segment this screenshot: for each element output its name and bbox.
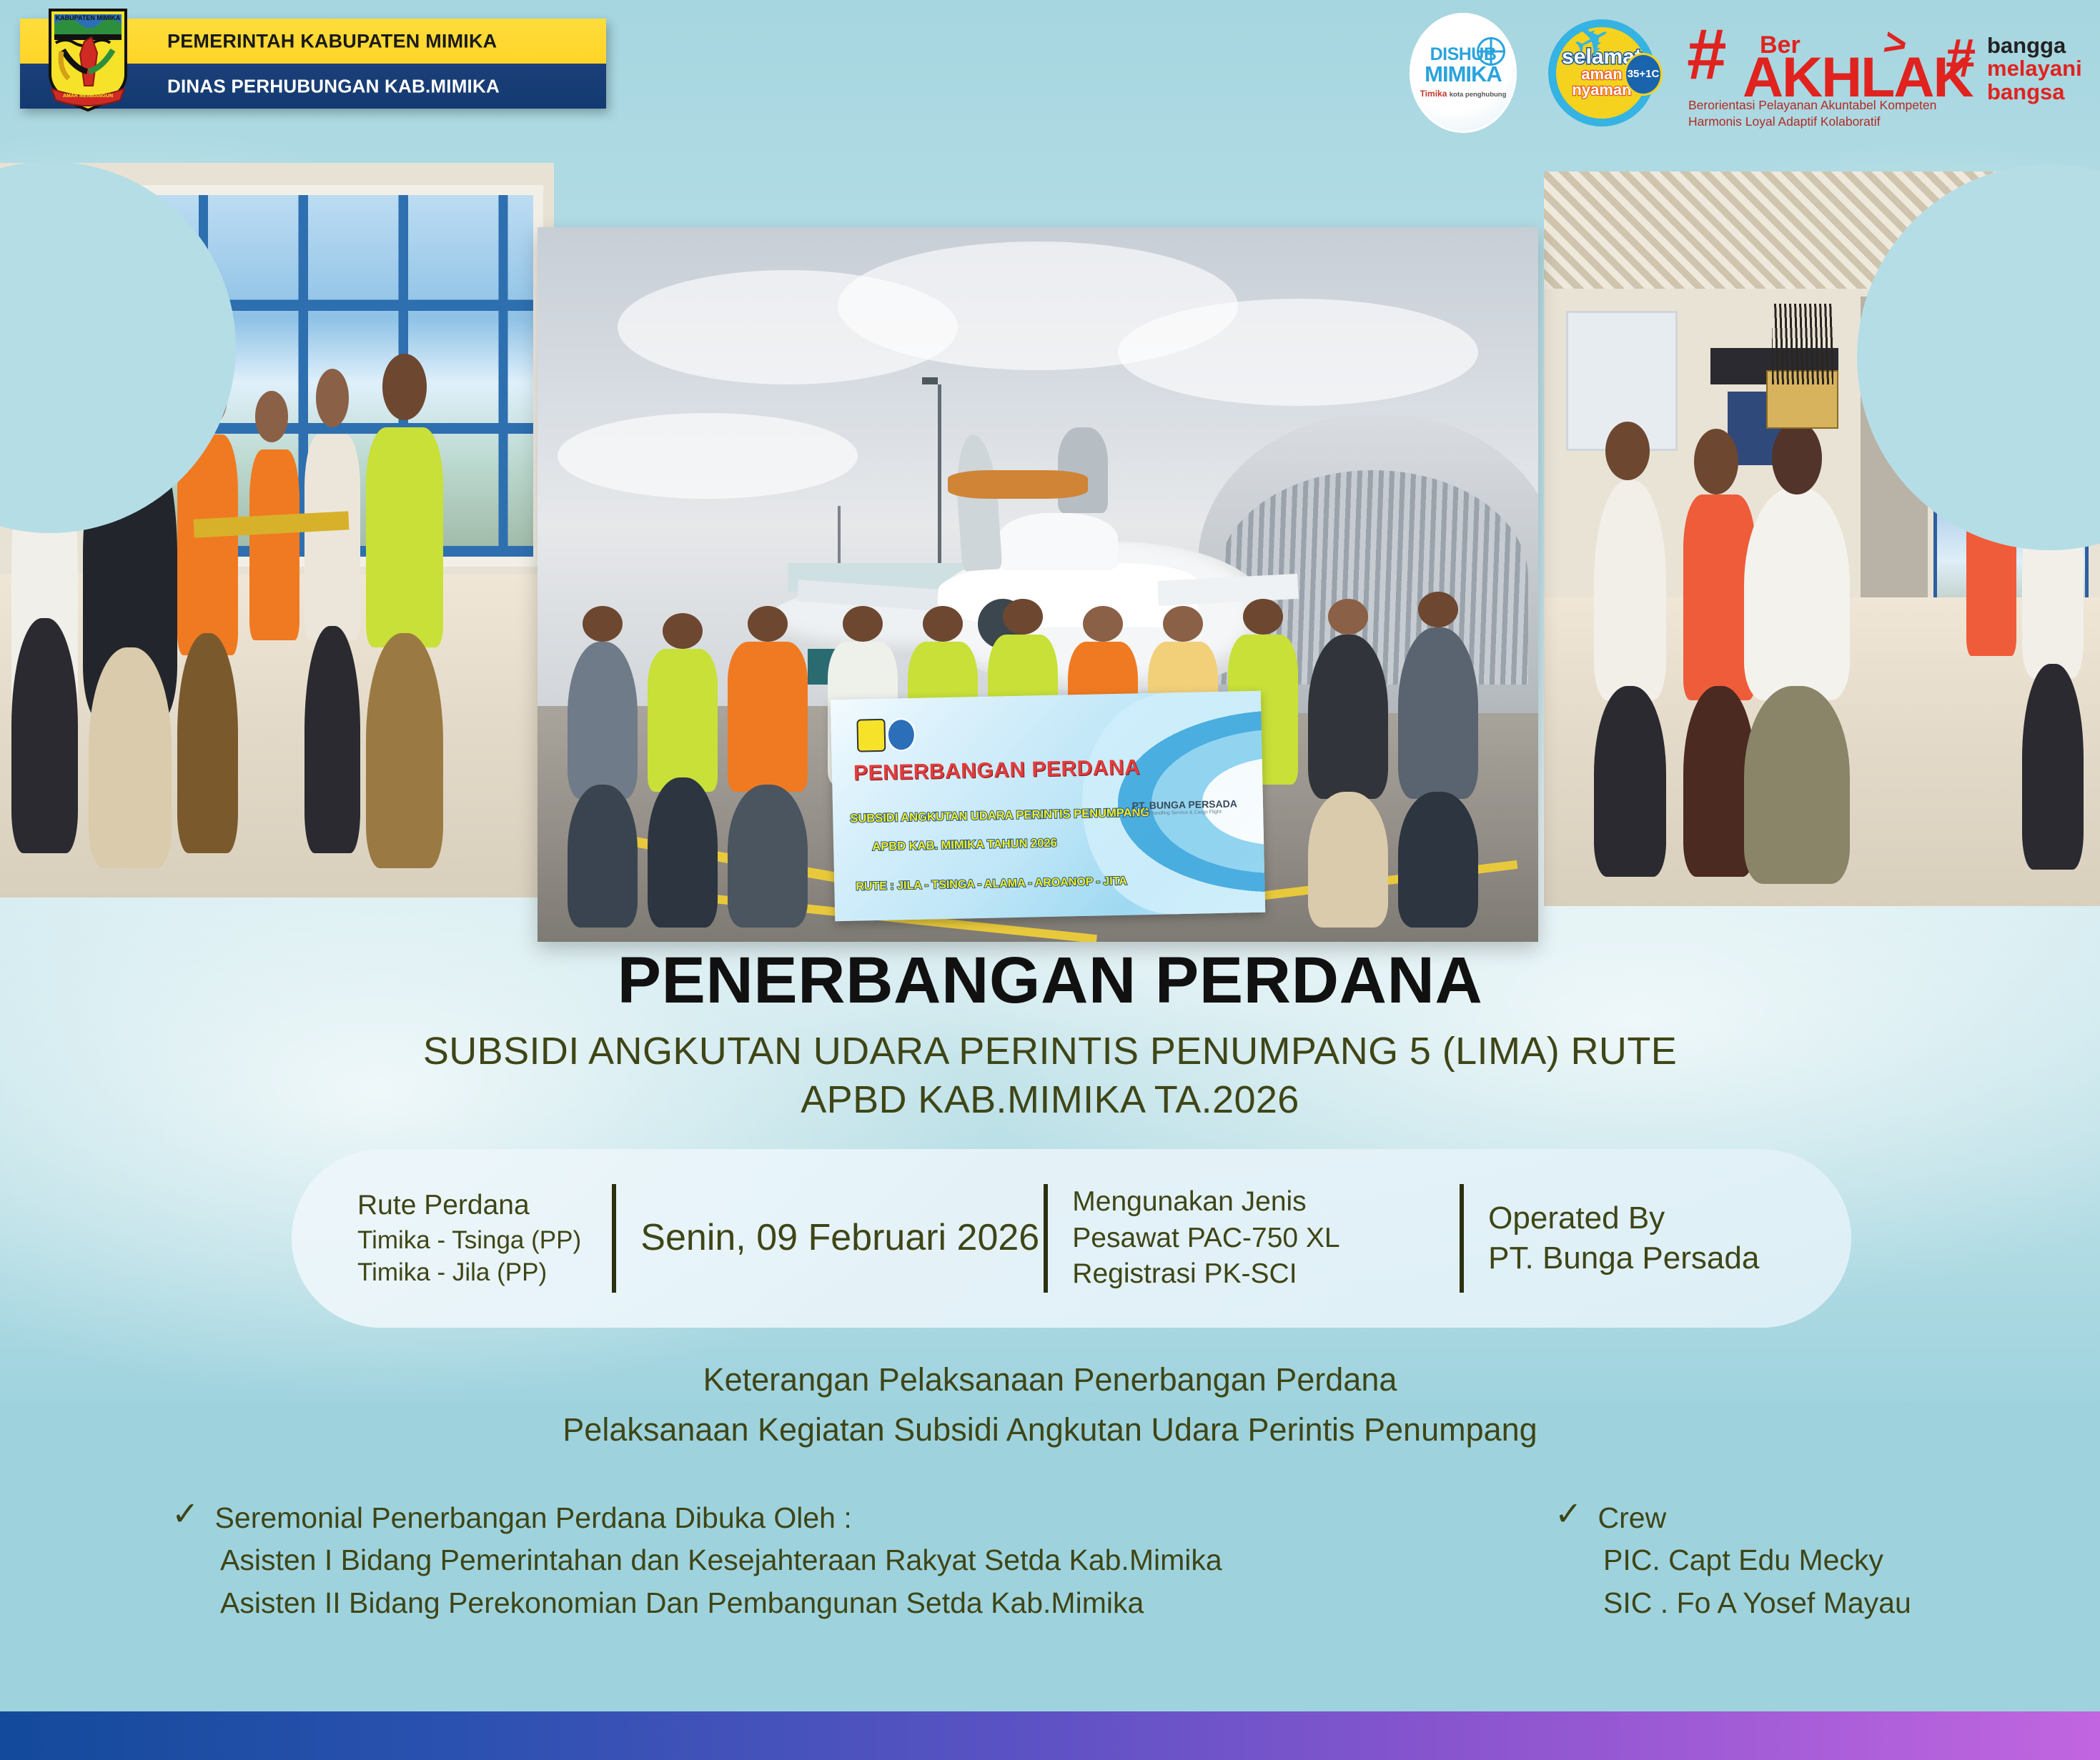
aircraft-label: Mengunakan Jenis [1072,1184,1435,1220]
footer-gradient-bar [0,1711,2100,1760]
header-department-label: DINAS PERHUBUNGAN KAB.MIMIKA [167,75,500,97]
keterangan-line-2: Pelaksanaan Kegiatan Subsidi Angkutan Ud… [0,1411,2100,1448]
flight-date: Senin, 09 Februari 2026 [640,1218,1019,1258]
dishub-mimika-logo: DISHUB MIMIKA Timika kota penghubung [1410,13,1517,133]
divider [1460,1184,1464,1293]
banner-operator: PT. BUNGA PERSADA Ground Handling Servic… [1131,797,1237,816]
poster-title: PENERBANGAN PERDANA [0,943,2100,1018]
divider [612,1184,616,1293]
banner-route: RUTE : JILA - TSINGA - ALAMA - AROANOP -… [856,875,1127,894]
info-column-route: Rute Perdana Timika - Tsinga (PP) Timika… [357,1188,588,1289]
svg-text:KABUPATEN MIMIKA: KABUPATEN MIMIKA [56,14,121,21]
dishub-line2: MIMIKA [1425,63,1502,85]
selamat-badge: 35+1C [1624,53,1663,96]
bangga-line1: bangga [1987,34,2082,58]
partner-logos: DISHUB MIMIKA Timika kota penghubung ✈ s… [1410,10,2084,135]
dishub-tagline: Timika kota penghubung [1420,89,1507,99]
crew-heading: Crew [1598,1497,1667,1539]
route-line-1: Timika - Tsinga (PP) [357,1224,588,1257]
akhlak-subtitle: Berorientasi Pelayanan Akuntabel Kompete… [1688,97,1936,131]
check-icon: ✓ [1555,1497,1583,1530]
aircraft-type: Pesawat PAC-750 XL [1072,1220,1435,1257]
bangga-melayani-bangsa-logo: # bangga melayani bangsa [1943,13,2084,133]
poster-subtitle-2: APBD KAB.MIMIKA TA.2026 [0,1078,2100,1122]
check-icon: ✓ [172,1497,199,1530]
operator-label: Operated By [1488,1198,1851,1238]
header-government-label: PEMERINTAH KABUPATEN MIMIKA [167,30,497,52]
operator-name: PT. Bunga Persada [1488,1238,1851,1278]
bangga-line3: bangsa [1987,81,2082,104]
photo-group-with-aircraft: PENERBANGAN PERDANA SUBSIDI ANGKUTAN UDA… [538,227,1538,942]
akhlak-wordmark: AKHLAK [1743,51,1973,102]
selamat-line3: nyaman [1572,82,1631,98]
svg-text:AMAR MEMBANGUN: AMAR MEMBANGUN [63,94,113,99]
bangga-lines: bangga melayani bangsa [1987,34,2082,105]
bangga-line2: melayani [1987,57,2082,81]
hash-icon: # [1946,37,1976,81]
hash-icon: # [1687,26,1727,83]
list-item: ✓ Crew [1555,1497,1911,1539]
info-column-operator: Operated By PT. Bunga Persada [1488,1198,1851,1279]
route-label: Rute Perdana [357,1188,588,1224]
poster-root: PEMERINTAH KABUPATEN MIMIKA DINAS PERHUB… [0,0,2100,1760]
crew-pic: PIC. Capt Edu Mecky [1555,1539,1911,1581]
banner-line3: APBD KAB. MIMIKA TAHUN 2026 [872,837,1057,854]
event-banner: PENERBANGAN PERDANA SUBSIDI ANGKUTAN UDA… [831,691,1265,922]
info-column-aircraft: Mengunakan Jenis Pesawat PAC-750 XL Regi… [1072,1184,1435,1293]
ceremonial-list: ✓ Seremonial Penerbangan Perdana Dibuka … [172,1497,1222,1624]
globe-icon [1477,37,1505,66]
divider [1044,1184,1048,1293]
banner-crest-dishub-icon [887,718,916,752]
keterangan-line-1: Keterangan Pelaksanaan Penerbangan Perda… [0,1361,2100,1398]
route-line-2: Timika - Jila (PP) [357,1256,588,1289]
list-item: ✓ Seremonial Penerbangan Perdana Dibuka … [172,1497,1222,1539]
aircraft-registration: Registrasi PK-SCI [1072,1256,1435,1293]
kabupaten-mimika-crest-icon: KABUPATEN MIMIKA AMAR MEMBANGUN [44,6,132,113]
banner-crest-mimika-icon [857,719,886,752]
crew-sic: SIC . Fo A Yosef Mayau [1555,1582,1911,1624]
crew-list: ✓ Crew PIC. Capt Edu Mecky SIC . Fo A Yo… [1555,1497,1911,1624]
ceremonial-item-1: Asisten I Bidang Pemerintahan dan Keseja… [172,1539,1222,1581]
selamat-aman-nyaman-logo: ✈ selamat aman nyaman 35+1C [1537,13,1667,133]
poster-subtitle-1: SUBSIDI ANGKUTAN UDARA PERINTIS PENUMPAN… [0,1029,2100,1073]
ceremonial-heading: Seremonial Penerbangan Perdana Dibuka Ol… [215,1497,852,1539]
info-column-date: Senin, 09 Februari 2026 [640,1218,1019,1258]
berakhlak-logo: # Ber AKHLAK > Berorientasi Pelayanan Ak… [1687,13,1923,133]
flight-info-panel: Rute Perdana Timika - Tsinga (PP) Timika… [292,1149,1851,1328]
ceremonial-item-2: Asisten II Bidang Perekonomian Dan Pemba… [172,1582,1222,1624]
